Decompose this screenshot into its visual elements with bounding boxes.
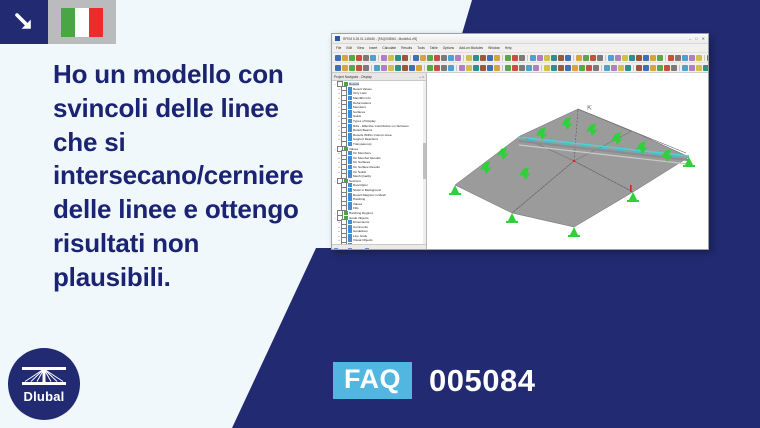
toolbar-icon[interactable] [480,55,486,61]
tree-color-swatch [348,238,352,242]
tree-color-swatch [348,197,352,201]
tree-color-swatch [348,96,352,100]
toolbar-icon[interactable] [604,65,610,71]
toolbar-icon[interactable] [544,65,550,71]
toolbar-icon[interactable] [427,55,433,61]
tree-item-label: Sections [349,179,361,183]
toolbar-icon[interactable] [370,55,376,61]
toolbar-separator [541,65,542,71]
toolbar-icon[interactable] [416,65,422,71]
toolbar-icon[interactable] [530,55,536,61]
tree-color-swatch [348,87,352,91]
toolbar-icon[interactable] [342,55,348,61]
tree-color-swatch [348,165,352,169]
toolbar-icon[interactable] [466,65,472,71]
navigator-tabs[interactable]: Data Display Views [332,244,426,250]
tree-item-label: Deformations [353,101,371,105]
toolbar-icon[interactable] [526,65,532,71]
tree-color-swatch [348,229,352,233]
tree-color-swatch [348,188,352,192]
faq-strip: FAQ 005084 [333,362,535,399]
toolbar-separator [573,55,574,61]
toolbar-icon[interactable] [668,55,674,61]
tree-color-swatch [348,183,352,187]
menu-item-tools[interactable]: Tools [417,46,425,50]
menu-item-calculate[interactable]: Calculate [382,46,396,50]
toolbar-icon[interactable] [593,65,599,71]
language-flag-badge [48,0,116,44]
toolbar-icon[interactable] [342,65,348,71]
headline-text: Ho un modello con svincoli delle linee c… [53,58,315,295]
faq-number: 005084 [429,365,535,396]
navigator-tab-data[interactable]: Data [334,248,346,251]
tree-color-swatch [348,170,352,174]
menu-item-options[interactable]: Options [443,46,454,50]
window-title: RFEM 5.26.01.145440 - [FAQ005084 - Model… [343,37,689,41]
toolbar-icon[interactable] [381,65,387,71]
toolbar-icon[interactable] [565,65,571,71]
toolbar-icon[interactable] [487,55,493,61]
tree-item-label: Support Reactions [353,137,378,141]
menu-item-add-on-modules[interactable]: Add-on Modules [459,46,483,50]
tree-color-swatch [348,128,352,132]
tree-checkbox[interactable] [341,242,347,244]
toolbar-icon[interactable] [395,55,401,61]
navigator-header: Project Navigator - Display ─ □ [332,73,426,81]
tree-color-swatch [348,91,352,95]
toolbar-icon[interactable] [413,55,419,61]
toolbar-separator [665,55,666,61]
toolbar-icon[interactable] [356,55,362,61]
toolbar-separator [410,55,411,61]
tree-color-swatch [348,114,352,118]
toolbar-icon[interactable] [551,55,557,61]
tree-color-swatch [348,137,352,141]
mouse-cursor: ⇱ [587,105,592,112]
toolbar-icon[interactable] [519,65,525,71]
support-bottom-mid [506,213,518,223]
toolbar-icon[interactable] [590,55,596,61]
toolbar-icon[interactable] [544,55,550,61]
tree-item-label: Transparency [353,142,372,146]
local-axis-marker [630,185,632,192]
tree-item-label: Description [353,183,368,187]
toolbar-icon[interactable] [664,65,670,71]
toolbar-icon[interactable] [597,55,603,61]
navigator-tab-display[interactable]: Display [348,248,364,251]
tree-item-label: Values [349,147,358,151]
italian-flag-icon [61,8,103,37]
toolbar-icon[interactable] [696,65,702,71]
window-body: Project Navigator - Display ─ □ −Results… [332,73,708,250]
toolbar-icon[interactable] [572,65,578,71]
toolbar-icon[interactable] [657,65,663,71]
toolbar-icon[interactable] [629,55,635,61]
toolbar-icon[interactable] [675,55,681,61]
tree-item[interactable]: Background Layers [333,243,426,244]
toolbar-separator [502,65,503,71]
toolbar-icon[interactable] [441,55,447,61]
tree-item-label: On Surface Results [353,165,380,169]
toolbar-icon[interactable] [618,65,624,71]
toolbar-icon[interactable] [388,55,394,61]
toolbar-separator [605,55,606,61]
app-icon [335,36,340,41]
tree-color-swatch [348,151,352,155]
navigator-scrollbar[interactable] [423,81,426,244]
menu-item-table[interactable]: Table [430,46,438,50]
toolbar-icon[interactable] [579,65,585,71]
toolbar-icon[interactable] [519,55,525,61]
toolbar-icon[interactable] [689,55,695,61]
menu-item-insert[interactable]: Insert [369,46,377,50]
toolbar-separator [463,55,464,61]
toolbar-icon[interactable] [374,65,380,71]
toolbar-icon[interactable] [487,65,493,71]
toolbar-icon[interactable] [512,65,518,71]
tree-color-swatch [348,193,352,197]
menu-item-help[interactable]: Help [505,46,512,50]
tree-item-label: Results Within Column Area [353,133,392,137]
tree-item-label: Line Grids [353,234,367,238]
model-workspace[interactable]: ⇱ [427,73,708,250]
navigator-tab-views[interactable]: Views [365,248,378,251]
toolbar-separator [424,65,425,71]
toolbar-icon[interactable] [671,65,677,71]
tree-color-swatch [348,156,352,160]
toolbar-icon[interactable] [448,55,454,61]
tree-item-label: Types of Display [353,119,376,123]
toolbar-icon[interactable] [427,65,433,71]
tree-color-swatch [348,101,352,105]
toolbar-icon[interactable] [388,65,394,71]
window-controls[interactable]: – □ ✕ [689,37,705,41]
toolbar-icon[interactable] [466,55,472,61]
tree-item-label: Visual Objects [353,238,373,242]
toolbar-icon[interactable] [441,65,447,71]
toolbar-icon[interactable] [505,55,511,61]
toolbar-icon[interactable] [643,55,649,61]
tree-item-label: On Member Results [353,156,381,160]
toolbar-icon[interactable] [611,65,617,71]
tree-color-swatch [348,234,352,238]
tree-color-swatch [348,225,352,229]
toolbar-icon[interactable] [434,65,440,71]
toolbar-icon[interactable] [381,55,387,61]
toolbar-icon[interactable] [494,65,500,71]
tree-item-label: Result Values [353,87,372,91]
tree-item-label: Dimensions [353,220,369,224]
tree-item-label: Result Beams [353,128,372,132]
toolbar-icon[interactable] [420,55,426,61]
toolbar-icon[interactable] [448,65,454,71]
rfem-application-window: RFEM 5.26.01.145440 - [FAQ005084 - Model… [331,33,709,250]
toolbar-icon[interactable] [707,55,709,61]
menu-item-edit[interactable]: Edit [346,46,352,50]
toolbar-separator [371,65,372,71]
toolbar-icon[interactable] [505,65,511,71]
toolbar-separator [633,65,634,71]
tree-item-label: Surfaces [353,110,365,114]
toolbar-icon[interactable] [643,65,649,71]
tree-item-label: Members [353,105,366,109]
toolbar-icon[interactable] [434,55,440,61]
tree-item-label: Only Lists [353,91,367,95]
tree-item-label: Hatching [353,197,365,201]
menu-bar[interactable]: FileEditViewInsertCalculateResultsToolsT… [332,44,708,53]
toolbar-icon[interactable] [335,55,341,61]
tree-color-swatch [344,211,348,215]
toolbar-icon[interactable] [636,65,642,71]
tree-item-label: Values [353,202,362,206]
tree-color-swatch [348,119,352,123]
tree-item-label: Background Layers [353,243,380,244]
toolbar-separator [601,65,602,71]
toolbar-icon[interactable] [608,55,614,61]
toolbar-icon[interactable] [657,55,663,61]
toolbar-icon[interactable] [583,55,589,61]
tree-color-swatch [348,220,352,224]
toolbar-icon[interactable] [703,65,709,71]
toolbar-icon[interactable] [473,55,479,61]
toolbar-icon[interactable] [363,65,369,71]
slab-model-3d-view[interactable] [427,73,708,250]
toolbar-icon[interactable] [576,55,582,61]
toolbar-icon[interactable] [558,65,564,71]
toolbar-icon[interactable] [558,55,564,61]
toolbar-icon[interactable] [622,55,628,61]
toolbar-icon[interactable] [636,55,642,61]
toolbar-icon[interactable] [455,55,461,61]
tree-item-label: Ribs - Effective Contribution on Surface… [353,124,409,128]
toolbar-icon[interactable] [650,55,656,61]
tree-color-swatch [348,124,352,128]
toolbar-icon[interactable] [615,55,621,61]
toolbar-icon[interactable] [537,55,543,61]
tree-item-label: Solids [353,114,361,118]
tree-color-swatch [348,206,352,210]
toolbar-icon[interactable] [565,55,571,61]
slide-canvas: Ho un modello con svincoli delle linee c… [0,0,760,428]
navigator-panel-controls[interactable]: ─ □ [419,75,424,79]
toolbar-icon[interactable] [682,55,688,61]
tree-color-swatch [348,142,352,146]
toolbar-icon[interactable] [349,55,355,61]
tree-item-label: Result Diagram in Mesh [353,193,386,197]
close-icon[interactable]: ✕ [702,37,705,41]
tree-item-label: Guidelines [353,229,368,233]
toolbar-icon[interactable] [473,65,479,71]
toolbar-icon[interactable] [349,65,355,71]
toolbar-icon[interactable] [363,55,369,61]
window-title-bar: RFEM 5.26.01.145440 - [FAQ005084 - Model… [332,34,708,44]
tree-item-label: Results [349,82,359,86]
tree-item-label: Hatching Regions [349,211,373,215]
tree-color-swatch [348,160,352,164]
tree-color-swatch [348,243,352,244]
toolbar-separator [704,55,705,61]
menu-item-file[interactable]: File [336,46,341,50]
menu-item-view[interactable]: View [357,46,364,50]
arrow-down-right-badge [0,0,48,44]
tree-item-label: Fills [353,206,359,210]
dlubal-logo: Dlubal [8,348,80,420]
navigator-tree[interactable]: −Results+Result Values+Only Lists+Max/Mi… [332,81,426,244]
tree-item-label: On Solids [353,170,366,174]
toolbar-icon[interactable] [480,65,486,71]
dlubal-bridge-icon [22,365,66,388]
toolbar-separator [502,55,503,61]
tree-color-swatch [348,133,352,137]
tree-item-label: On Members [353,151,371,155]
menu-item-window[interactable]: Window [488,46,500,50]
minimize-icon[interactable]: – [689,37,691,41]
toolbar-icon[interactable] [533,65,539,71]
dlubal-logo-text: Dlubal [24,390,65,403]
toolbar-separator [456,65,457,71]
tree-item-label: Guide Objects [349,216,369,220]
faq-badge: FAQ [333,362,412,399]
toolbar-icon[interactable] [689,65,695,71]
tree-color-swatch [348,174,352,178]
toolbar-row-1[interactable] [332,53,708,63]
bridge-truss-icon [22,365,66,388]
toolbar-icon[interactable] [335,65,341,71]
toolbar-icon[interactable] [459,65,465,71]
toolbar-icon[interactable] [402,55,408,61]
tree-item-label: Comments [353,225,368,229]
project-navigator-panel: Project Navigator - Display ─ □ −Results… [332,73,427,250]
toolbar-icon[interactable] [696,55,702,61]
tree-color-swatch [348,105,352,109]
toolbar-separator [679,65,680,71]
toolbar-icon[interactable] [625,65,631,71]
tree-item-label: On Surfaces [353,160,370,164]
menu-item-results[interactable]: Results [401,46,412,50]
toolbar-icon[interactable] [395,65,401,71]
toolbar-icon[interactable] [494,55,500,61]
corner-badges [0,0,116,44]
toolbar-icon[interactable] [409,65,415,71]
toolbar-icon[interactable] [402,65,408,71]
maximize-icon[interactable]: □ [695,37,697,41]
navigator-title: Project Navigator - Display [334,75,372,79]
toolbar-row-2[interactable] [332,63,708,73]
toolbar-separator [527,55,528,61]
tree-item-label: Mesh Quality [353,174,371,178]
arrow-down-right-icon [11,9,37,35]
tree-color-swatch [348,202,352,206]
tree-color-swatch [348,110,352,114]
toolbar-separator [378,55,379,61]
toolbar-icon[interactable] [512,55,518,61]
toolbar-icon[interactable] [586,65,592,71]
toolbar-icon[interactable] [551,65,557,71]
tree-item-label: Show in Background [353,188,381,192]
support-bottom [568,227,580,237]
toolbar-icon[interactable] [356,65,362,71]
selected-node-marker [573,160,575,162]
tree-item-label: Max/Min Info [353,96,371,100]
toolbar-icon[interactable] [650,65,656,71]
toolbar-icon[interactable] [682,65,688,71]
